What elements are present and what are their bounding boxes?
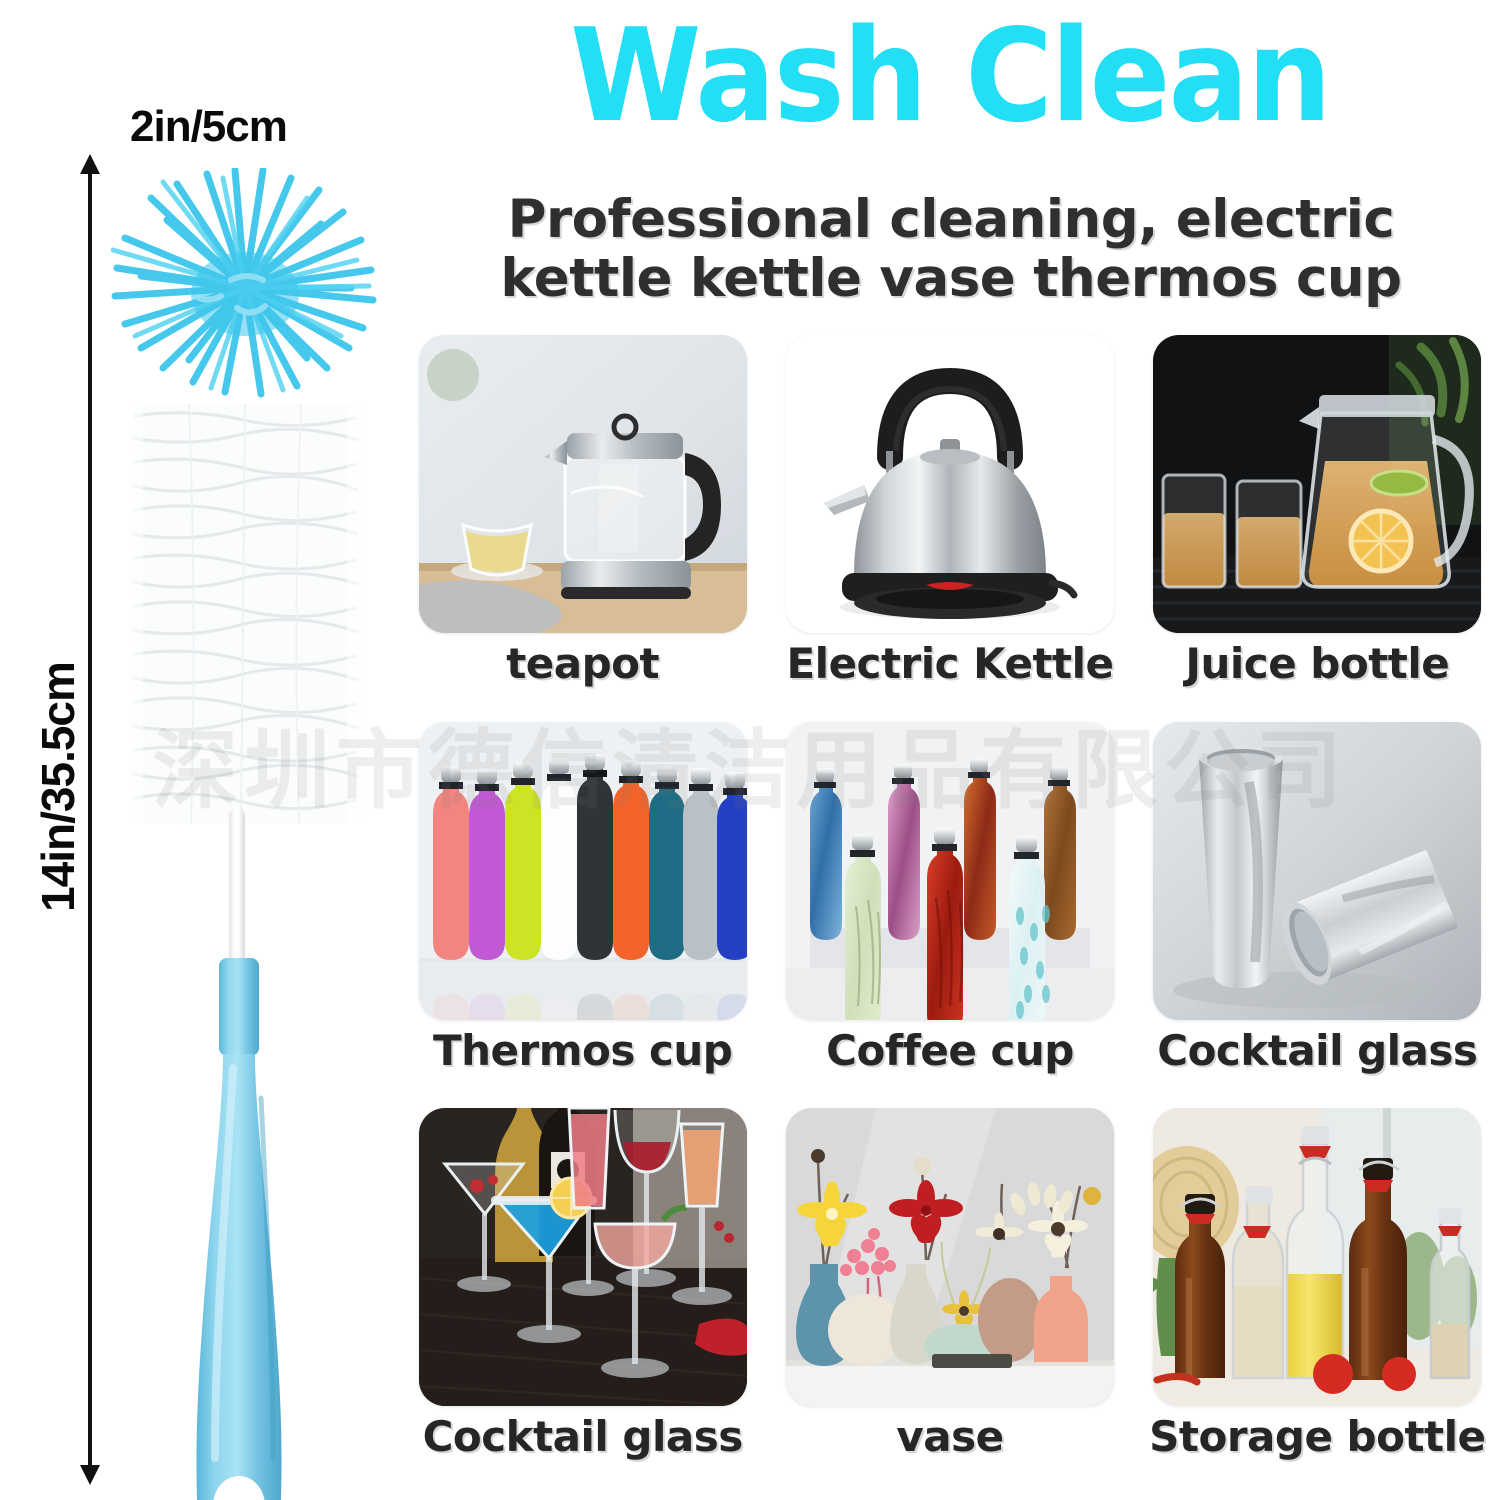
grid-item-juice-bottle: Juice bottle xyxy=(1139,335,1496,722)
stainless-dome-kettle-art xyxy=(786,335,1114,633)
grid-item-storage-bottle: Storage bottle xyxy=(1139,1108,1496,1495)
caption-coffee-cup: Coffee cup xyxy=(826,1026,1074,1075)
caption-thermos-cup: Thermos cup xyxy=(433,1026,732,1075)
patterned-vacuum-bottles-art xyxy=(786,722,1114,1020)
page-title: Wash Clean xyxy=(452,16,1449,138)
ceramic-vases-flowers-art xyxy=(786,1108,1114,1406)
glass-electric-teapot-art xyxy=(419,335,747,633)
brush-panel: 2in/5cm 14in/35.5cm xyxy=(0,0,400,1500)
cocktail-glassware-set-art xyxy=(419,1108,747,1406)
grid-item-electric-kettle: Electric Kettle xyxy=(771,335,1128,722)
photo-cocktail-glassware xyxy=(419,1108,747,1406)
colored-vacuum-bottles-art xyxy=(419,722,747,1020)
caption-vase: vase xyxy=(896,1412,1003,1461)
page-subtitle: Professional cleaning, electric kettle k… xyxy=(410,190,1492,309)
subtitle-line-1: Professional cleaning, electric xyxy=(410,190,1492,249)
bottle-brush-illustration xyxy=(105,168,385,1478)
glass-pitcher-iced-tea-art xyxy=(1153,335,1481,633)
caption-storage-bottle: Storage bottle xyxy=(1149,1412,1485,1461)
usage-grid: teapot xyxy=(400,335,1500,1495)
caption-cocktail-glass-shaker: Cocktail glass xyxy=(1157,1026,1477,1075)
swing-top-glass-bottles-art xyxy=(1153,1108,1481,1406)
caption-teapot: teapot xyxy=(506,639,659,688)
photo-teapot xyxy=(419,335,747,633)
white-bristles-svg xyxy=(129,404,361,824)
brush-white-bristle-body xyxy=(129,404,361,824)
brush-handle xyxy=(189,958,289,1500)
grid-item-vase: vase xyxy=(771,1108,1128,1495)
grid-item-coffee-cup: Coffee cup xyxy=(771,722,1128,1109)
handle-svg xyxy=(189,958,289,1500)
grid-item-cocktail-glassware: Cocktail glass xyxy=(404,1108,761,1495)
grid-item-cocktail-glass-shaker: Cocktail glass xyxy=(1139,722,1496,1109)
subtitle-line-2: kettle kettle vase thermos cup xyxy=(410,249,1492,308)
caption-cocktail-glassware: Cocktail glass xyxy=(423,1412,743,1461)
photo-vase xyxy=(786,1108,1114,1406)
content-panel: Wash Clean Professional cleaning, electr… xyxy=(400,0,1500,1500)
caption-electric-kettle: Electric Kettle xyxy=(786,639,1113,688)
photo-juice-bottle xyxy=(1153,335,1481,633)
length-dimension-arrow xyxy=(88,172,92,1467)
steel-shaker-tins-art xyxy=(1153,722,1481,1020)
photo-cocktail-shaker xyxy=(1153,722,1481,1020)
total-length-label: 14in/35.5cm xyxy=(31,617,85,957)
blue-bristles-svg xyxy=(111,168,379,426)
photo-electric-kettle xyxy=(786,335,1114,633)
photo-coffee-cup xyxy=(786,722,1114,1020)
grid-item-teapot: teapot xyxy=(404,335,761,722)
brush-blue-bristle-head xyxy=(111,168,379,426)
photo-storage-bottle xyxy=(1153,1108,1481,1406)
caption-juice-bottle: Juice bottle xyxy=(1185,639,1449,688)
photo-thermos-cup xyxy=(419,722,747,1020)
infographic-page: 深圳市德信清洁用品有限公司 2in/5cm 14in/35.5cm xyxy=(0,0,1500,1500)
grid-item-thermos-cup: Thermos cup xyxy=(404,722,761,1109)
head-width-label: 2in/5cm xyxy=(130,102,287,152)
